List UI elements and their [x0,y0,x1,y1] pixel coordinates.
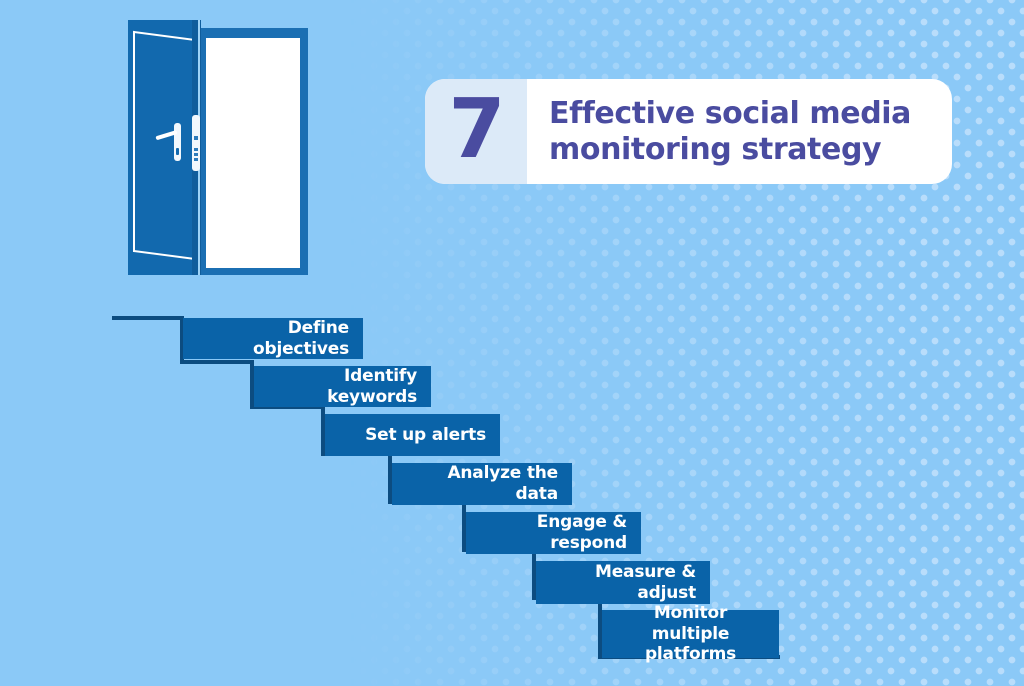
door-panel-bevel [133,31,195,260]
header-badge: 7 Effective social media monitoring stra… [425,79,952,184]
step-item-3[interactable]: Set up alerts [325,414,500,456]
step-item-6[interactable]: Measure & adjust [536,561,710,604]
open-door-illustration [128,20,308,275]
door-strike-slot [194,148,198,151]
step-item-1[interactable]: Define objectives [183,318,363,359]
header-number: 7 [448,89,503,171]
stair-tread [112,316,184,320]
step-label: Measure & adjust [550,562,696,603]
step-label: Set up alerts [339,425,486,446]
step-label: Identify keywords [268,366,417,407]
step-label: Analyze the data [406,463,558,504]
header-number-panel: 7 [425,79,527,184]
door-strike-slot [194,136,198,140]
step-item-7[interactable]: Monitor multiple platforms [602,610,779,658]
infographic-canvas: 7 Effective social media monitoring stra… [0,0,1024,686]
stair-tread [180,360,254,364]
door-strike-slot [194,153,198,156]
step-item-4[interactable]: Analyze the data [392,463,572,505]
step-label: Define objectives [197,318,349,359]
page-title: Effective social media monitoring strate… [527,79,952,184]
door-handle-plate [174,123,181,161]
step-item-5[interactable]: Engage & respond [466,512,641,554]
step-label: Engage & respond [480,512,627,553]
page-title-line-2: monitoring strategy [549,132,938,167]
door-strike-plate [192,115,200,171]
step-item-2[interactable]: Identify keywords [254,366,431,407]
door-opening [206,38,300,268]
page-title-line-1: Effective social media [549,96,938,131]
door-panel [128,20,200,275]
door-keyhole-icon [176,148,179,155]
step-label: Monitor multiple platforms [616,603,765,665]
door-strike-slot [194,158,198,161]
